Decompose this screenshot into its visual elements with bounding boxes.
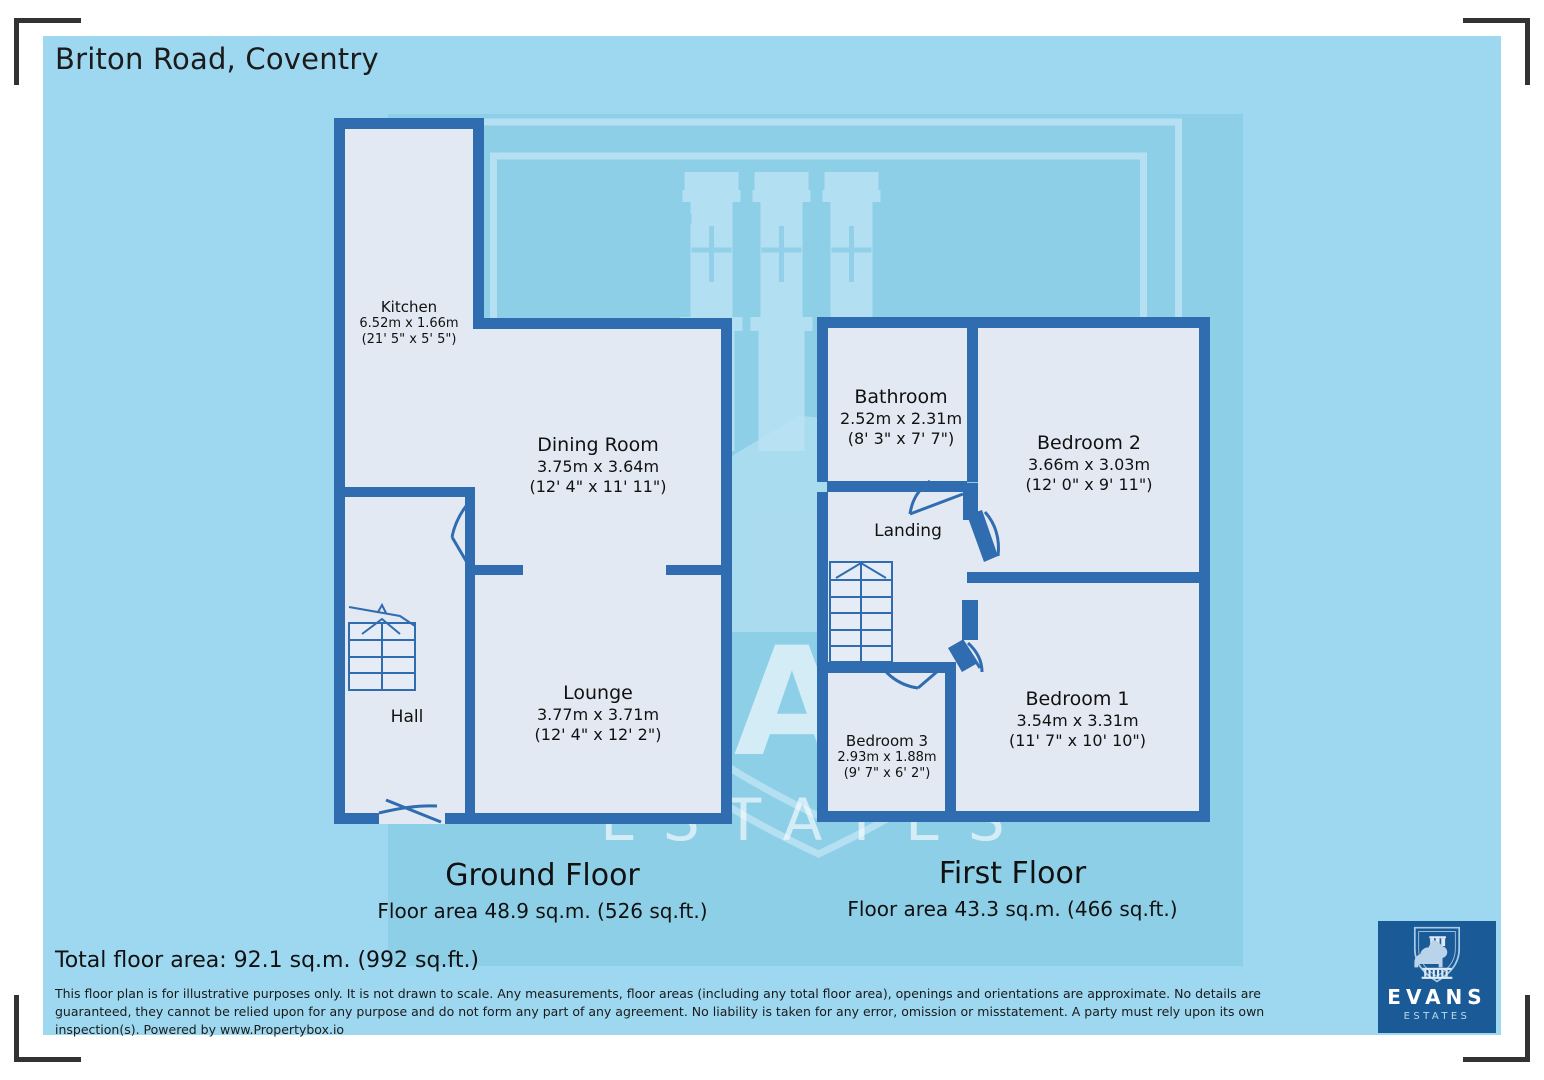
disclaimer-text: This floor plan is for illustrative purp… xyxy=(55,985,1330,1039)
room-label-bedroom-1: Bedroom 1 3.54m x 3.31m (11' 7" x 10' 10… xyxy=(955,688,1200,750)
corner-bracket-top-right xyxy=(1463,18,1530,85)
room-label-hall: Hall xyxy=(352,707,462,728)
total-floor-area: Total floor area: 92.1 sq.m. (992 sq.ft.… xyxy=(55,948,479,973)
room-label-dining-room: Dining Room 3.75m x 3.64m (12' 4" x 11' … xyxy=(478,434,718,496)
room-label-landing: Landing xyxy=(840,521,976,542)
wall-lounge-top-right xyxy=(666,565,732,575)
room-label-bedroom-2: Bedroom 2 3.66m x 3.03m (12' 0" x 9' 11"… xyxy=(978,432,1200,494)
logo-subname: ESTATES xyxy=(1404,1011,1471,1022)
first-floor-staircase xyxy=(830,562,892,662)
corner-bracket-top-left xyxy=(14,18,81,85)
floorplan-drawing xyxy=(0,0,1544,1080)
corner-bracket-bottom-right xyxy=(1463,995,1530,1062)
wall-bathroom-landing xyxy=(827,481,967,492)
corner-bracket-bottom-left xyxy=(14,995,81,1062)
first-floor-caption: First Floor Floor area 43.3 sq.m. (466 s… xyxy=(835,856,1190,921)
room-label-bedroom-3: Bedroom 3 2.93m x 1.88m (9' 7" x 6' 2") xyxy=(822,732,952,782)
room-label-lounge: Lounge 3.77m x 3.71m (12' 4" x 12' 2") xyxy=(478,682,718,744)
wall-bed2-bed1 xyxy=(967,572,1200,583)
wall-hall-lounge xyxy=(465,565,475,815)
wall-hall-kitchen xyxy=(344,487,474,497)
shield-crest-icon xyxy=(1411,926,1463,984)
page-title: Briton Road, Coventry xyxy=(55,42,379,76)
room-label-bathroom: Bathroom 2.52m x 2.31m (8' 3" x 7' 7") xyxy=(827,386,975,448)
room-label-kitchen: Kitchen 6.52m x 1.66m (21' 5" x 5' 5") xyxy=(334,298,484,348)
ground-floor-caption: Ground Floor Floor area 48.9 sq.m. (526 … xyxy=(360,858,725,923)
